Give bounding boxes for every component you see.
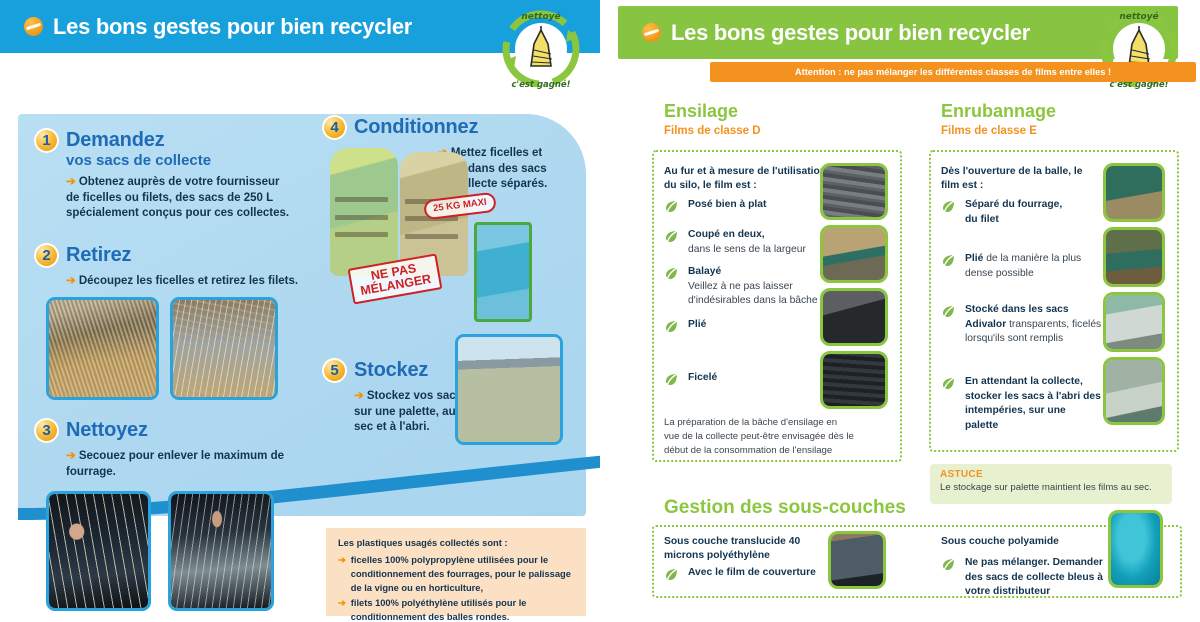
step-2: 2 Retirez ➔ Découpez les ficelles et ret… [34,243,314,290]
light-text: Veillez à ne pas laisser d'indésirables … [688,281,818,307]
ensilage-item-5: Ficelé [664,371,829,387]
ensilage-lead: Au fur et à mesure de l'utilisation du s… [664,165,829,194]
photo-image [823,354,885,406]
arrow-icon: ➔ [338,554,346,596]
photo-image [1106,230,1162,284]
ensilage-item-2: Coupé en deux, dans le sens de la largeu… [664,228,834,257]
step-2-body: ➔ Découpez les ficelles et retirez les f… [66,274,314,290]
photo-image [458,337,560,442]
step-3-title: Nettoyez [66,419,148,442]
photo-retirez-1 [46,297,159,400]
sous-couches-right-lead: Sous couche polyamide [941,535,1111,549]
step-3: 3 Nettoyez ➔ Secouez pour enlever le max… [34,418,324,480]
leaf-icon [941,199,956,214]
step-3-head: 3 Nettoyez [34,418,324,443]
bold-text: Ne pas mélanger. Demander des sacs de co… [965,557,1103,597]
step-2-head: 2 Retirez [34,243,314,268]
enrubannage-item-2: Plié de la manière la plus dense possibl… [941,252,1101,281]
bold-text: En attendant la collecte, stocker les sa… [965,376,1101,431]
attention-banner: Attention : ne pas mélanger les différen… [710,62,1196,82]
left-header-title: Les bons gestes pour bien recycler [53,14,412,40]
photo-nettoyez-2 [168,491,274,611]
ensilage-item-1: Posé bien à plat [664,198,829,214]
light-text: de la manière la plus dense possible [965,253,1081,279]
sack-illustration-1 [330,148,398,276]
sous-couches-right-item-text: Ne pas mélanger. Demander des sacs de co… [965,556,1116,600]
step-4-title: Conditionnez [354,116,478,139]
svg-text:c'est gagné!: c'est gagné! [511,79,570,90]
max-weight-text: 25 KG MAXI [432,197,487,214]
enrubannage-item-2-text: Plié de la manière la plus dense possibl… [965,252,1101,281]
step-5-title: Stockez [354,359,428,382]
ensilage-footnote: La préparation de la bâche d'ensilage en… [664,416,854,459]
step-5-number: 5 [322,358,347,383]
photo-enrubannage-2 [1103,227,1165,287]
photo-ensilage-3 [820,288,888,346]
arrow-icon: ➔ [354,390,364,402]
ensilage-title: Ensilage [664,101,738,122]
photo-ensilage-1 [820,163,888,220]
bold-text: Plié [688,319,706,330]
photo-image [171,494,271,608]
photo-image [831,534,883,586]
bold-text: Posé bien à plat [688,199,766,210]
leaf-icon [941,253,956,268]
photo-enrubannage-3 [1103,292,1165,352]
ensilage-item-3: Balayé Veillez à ne pas laisser d'indési… [664,265,836,309]
photo-stockez [455,334,563,445]
plastics-note: Les plastiques usagés collectés sont : ➔… [326,528,586,616]
sous-couches-title: Gestion des sous-couches [664,497,906,519]
step-1: 1 Demandez vos sacs de collecte ➔ Obtene… [34,128,294,222]
step-1-body-text: Obtenez auprès de votre fournisseur de f… [66,176,289,219]
plastics-note-item-2: filets 100% polyéthylène utilisés pour l… [351,597,574,622]
leaf-icon [941,557,956,572]
photo-image [823,166,885,217]
ensilage-item-4: Plié [664,318,829,334]
photo-ensilage-2 [820,225,888,283]
bold-text: Séparé du fourrage, [965,199,1062,210]
step-1-head: 1 Demandez [34,128,294,153]
light-text: du filet [965,214,999,225]
astuce-title: ASTUCE [940,469,1162,480]
step-1-number: 1 [34,128,59,153]
step-3-body-text: Secouez pour enlever le maximum de fourr… [66,450,284,478]
list-item: ➔ filets 100% polyéthylène utilisés pour… [338,597,574,622]
poster-page: Les bons gestes pour bien recycler netto… [0,0,1200,622]
step-5-body-text: Stockez vos sacs sur une palette, au sec… [354,390,462,433]
photo-image [1111,513,1160,585]
step-4: 4 Conditionnez [322,115,562,140]
left-panel: Les bons gestes pour bien recycler netto… [0,0,600,622]
leaf-icon [664,229,679,244]
list-item: ➔ ficelles 100% polypropylène utilisées … [338,554,574,596]
photo-image [1106,166,1162,219]
leaf-icon [664,199,679,214]
bold-text: Coupé en deux, [688,229,765,240]
leaf-icon [941,304,956,319]
enrubannage-item-4-text: En attendant la collecte, stocker les sa… [965,375,1101,433]
adivalor-dot-icon [24,17,43,36]
photo-image [823,228,885,280]
step-2-body-text: Découpez les ficelles et retirez les fil… [79,275,298,287]
ensilage-item-2-text: Coupé en deux, dans le sens de la largeu… [688,228,806,257]
photo-ensilage-4 [820,351,888,409]
sous-couches-right-item: Ne pas mélanger. Demander des sacs de co… [941,556,1116,600]
step-1-body: ➔ Obtenez auprès de votre fournisseur de… [66,175,294,222]
enrubannage-item-3: Stocké dans les sacs Adivalor transparen… [941,303,1106,347]
step-4-number: 4 [322,115,347,140]
arrow-icon: ➔ [66,275,76,287]
photo-retirez-2 [170,297,278,400]
photo-image [49,300,156,397]
ensilage-subtitle: Films de classe D [664,125,761,137]
arrow-icon: ➔ [66,176,76,188]
step-1-title: Demandez [66,129,164,152]
bold-text: Avec le film de couverture [688,567,816,578]
sack-label [335,215,388,220]
leaf-icon [664,319,679,334]
sous-couches-left-item: Avec le film de couverture [664,566,839,582]
right-header-title: Les bons gestes pour bien recycler [671,20,1030,46]
ensilage-item-4-text: Plié [688,318,706,334]
sack-in-rack-illustration [474,222,532,322]
nettoye-badge-left: nettoyé c'est gagné! [498,6,584,92]
sous-couches-left-lead: Sous couche translucide 40 microns polyé… [664,535,834,564]
leaf-icon [664,372,679,387]
adivalor-dot-icon [642,23,661,42]
ensilage-item-3-text: Balayé Veillez à ne pas laisser d'indési… [688,265,836,309]
photo-image [173,300,275,397]
enrubannage-subtitle: Films de classe E [941,125,1037,137]
photo-image [1106,295,1162,349]
leaf-icon [664,567,679,582]
step-4-head: 4 Conditionnez [322,115,562,140]
step-2-number: 2 [34,243,59,268]
leaf-icon [664,266,679,281]
photo-image [823,291,885,343]
photo-nettoyez-1 [46,491,151,611]
bold-text: Ficelé [688,372,717,383]
plastics-note-heading: Les plastiques usagés collectés sont : [338,537,574,551]
sous-couches-left-item-text: Avec le film de couverture [688,566,816,582]
ensilage-item-1-text: Posé bien à plat [688,198,766,214]
enrubannage-title: Enrubannage [941,101,1056,122]
enrubannage-item-3-text: Stocké dans les sacs Adivalor transparen… [965,303,1106,347]
enrubannage-item-1: Séparé du fourrage, du filet [941,198,1101,227]
sack-label [335,197,388,202]
enrubannage-lead: Dès l'ouverture de la balle, le film est… [941,165,1101,194]
step-3-body: ➔ Secouez pour enlever le maximum de fou… [66,449,324,480]
sack-label [335,232,388,237]
step-1-subtitle: vos sacs de collecte [66,152,294,169]
photo-image [1106,360,1162,422]
step-3-number: 3 [34,418,59,443]
leaf-icon [941,376,956,391]
plastics-note-item-1: ficelles 100% polypropylène utilisées po… [351,554,574,596]
svg-text:nettoyé: nettoyé [1119,11,1158,22]
photo-image [49,494,148,608]
right-header-bar: Les bons gestes pour bien recycler [618,6,1178,59]
bold-text: Balayé [688,266,721,277]
arrow-icon: ➔ [66,450,76,462]
sack-label [405,234,458,239]
svg-text:nettoyé: nettoyé [521,11,560,22]
ensilage-item-5-text: Ficelé [688,371,717,387]
photo-enrubannage-1 [1103,163,1165,222]
photo-sous-couche-translucide [828,531,886,589]
arrow-icon: ➔ [338,597,346,622]
light-text: dans le sens de la largeur [688,244,806,255]
bold-text: Plié [965,253,983,264]
photo-enrubannage-4 [1103,357,1165,425]
enrubannage-item-1-text: Séparé du fourrage, du filet [965,198,1062,227]
enrubannage-item-4: En attendant la collecte, stocker les sa… [941,375,1101,433]
astuce-text: Le stockage sur palette maintient les fi… [940,482,1162,493]
plastics-note-list: ➔ ficelles 100% polypropylène utilisées … [338,554,574,622]
step-2-title: Retirez [66,244,131,267]
photo-sous-couche-polyamide [1108,510,1163,588]
astuce-box: ASTUCE Le stockage sur palette maintient… [930,464,1172,504]
